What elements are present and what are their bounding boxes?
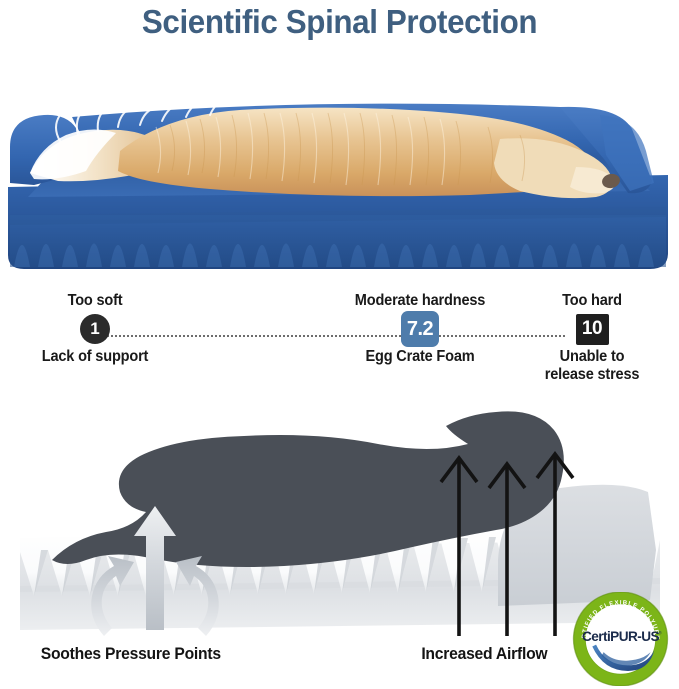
scale-sub-lack-of-support: Lack of support [25,348,166,366]
bed-crate-texture [10,207,666,267]
scale-caption-too-hard: Too hard [510,292,674,310]
scale-badge-1: 1 [80,314,110,344]
page-title: Scientific Spinal Protection [17,3,662,41]
scale-caption-moderate-hardness: Moderate hardness [335,292,504,310]
certipur-us-logo: CONTAINS CERTIFIED FLEXIBLE POLYURETHANE… [572,592,669,686]
scale-badge-10: 10 [576,314,609,345]
airflow-arrows [441,454,573,636]
label-soothes-pressure-points: Soothes Pressure Points [41,645,221,664]
scale-sub-unable-line2: release stress [510,366,674,384]
scale-sub-unable-line1: Unable to [510,348,674,366]
infographic-page: Scientific Spinal Protection [0,0,679,689]
scale-badge-7-2: 7.2 [401,311,439,347]
dog-bed-photo-illustration [0,55,679,285]
scale-node-too-hard: Too hard 10 Unable to release stress [505,292,679,384]
scale-sub-egg-crate-foam: Egg Crate Foam [335,348,504,366]
seal-brand-text: CertiPUR-US [582,629,660,644]
product-photo [0,55,679,285]
certipur-seal: CONTAINS CERTIFIED FLEXIBLE POLYURETHANE… [572,592,669,686]
label-increased-airflow: Increased Airflow [421,645,547,664]
scale-node-moderate: Moderate hardness 7.2 Egg Crate Foam [330,292,510,366]
scale-node-too-soft: Too soft 1 Lack of support [20,292,170,366]
hardness-scale: Too soft 1 Lack of support Moderate hard… [0,292,679,392]
seal-trademark-mark: ® [658,629,662,635]
scale-caption-too-soft: Too soft [25,292,166,310]
